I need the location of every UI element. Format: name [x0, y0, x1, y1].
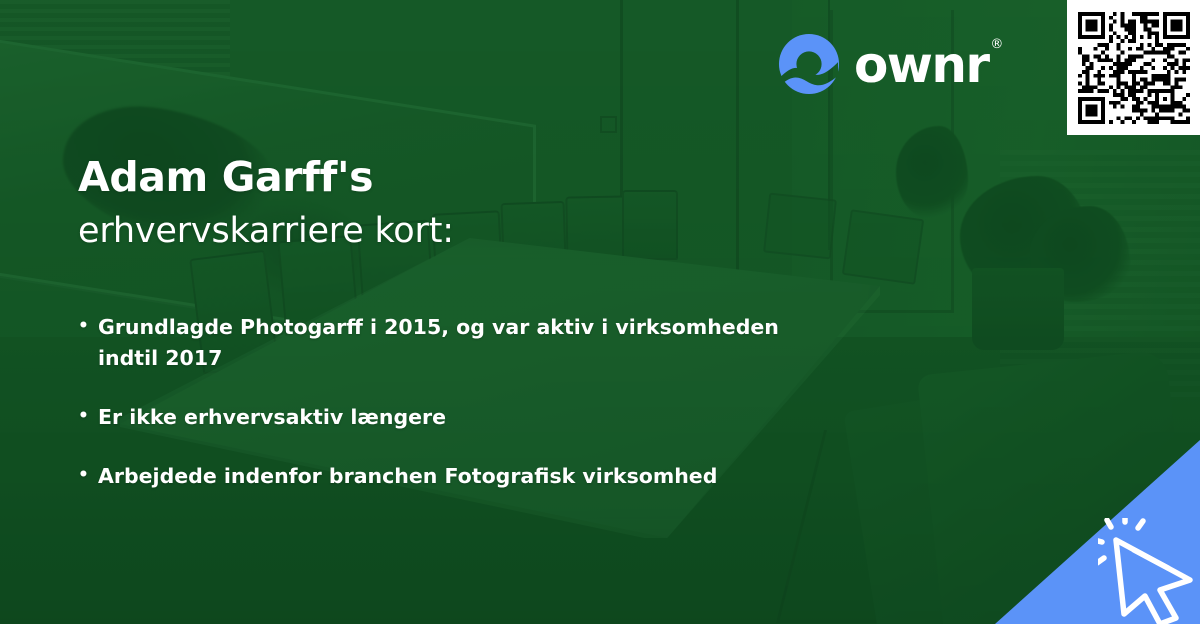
list-item: • Grundlagde Photogarff i 2015, og var a… — [78, 312, 958, 374]
card-content: Adam Garff's erhvervskarriere kort: • Gr… — [0, 0, 1200, 624]
ownr-circle-swirl-icon — [778, 33, 840, 95]
bullet-icon: • — [78, 312, 98, 342]
qr-code[interactable] — [1067, 0, 1200, 135]
click-cursor-icon — [1098, 518, 1200, 624]
qr-code-icon — [1078, 12, 1190, 124]
list-item: • Er ikke erhvervsaktiv længere — [78, 402, 958, 433]
bullet-icon: • — [78, 402, 98, 432]
career-facts-list: • Grundlagde Photogarff i 2015, og var a… — [78, 312, 958, 521]
page-title: Adam Garff's — [78, 156, 373, 199]
page-subtitle: erhvervskarriere kort: — [78, 212, 454, 251]
list-item: • Arbejdede indenfor branchen Fotografis… — [78, 461, 958, 492]
business-career-card: Adam Garff's erhvervskarriere kort: • Gr… — [0, 0, 1200, 624]
list-item-text: Er ikke erhvervsaktiv længere — [98, 402, 838, 433]
ownr-logo[interactable]: ownr ® — [778, 33, 1001, 95]
list-item-text: Grundlagde Photogarff i 2015, og var akt… — [98, 312, 838, 374]
bullet-icon: • — [78, 461, 98, 491]
registered-trademark-icon: ® — [990, 38, 1003, 51]
ownr-wordmark: ownr — [854, 40, 988, 90]
list-item-text: Arbejdede indenfor branchen Fotografisk … — [98, 461, 838, 492]
